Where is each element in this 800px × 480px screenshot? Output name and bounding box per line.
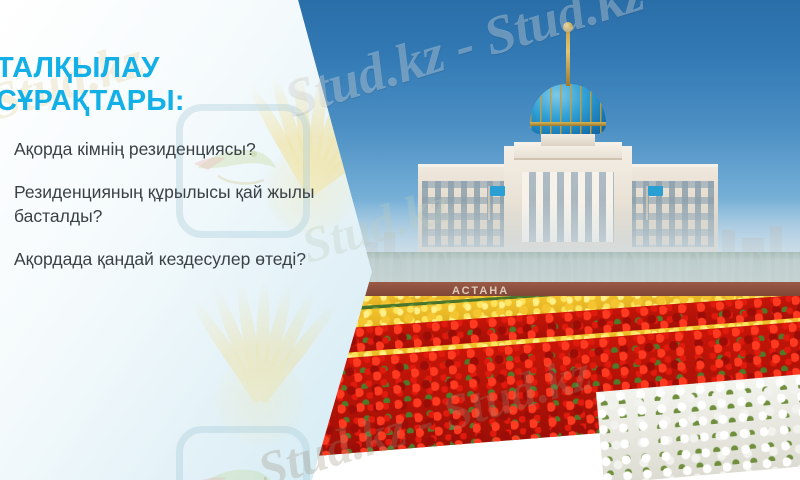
bird-logo-icon	[188, 444, 284, 480]
question-item: Ақордада қандай кездесулер өтеді?	[14, 248, 326, 271]
gold-spire	[566, 28, 570, 86]
title-line-2: СҰРАҚТАРЫ:	[0, 85, 306, 118]
dome-band	[530, 122, 606, 126]
question-item: Ақорда кімнің резиденциясы?	[14, 138, 326, 161]
kazakh-flag	[490, 186, 505, 196]
kazakh-flag	[648, 186, 663, 196]
question-list: Ақорда кімнің резиденциясы? Резиденцияны…	[14, 138, 326, 272]
slide-canvas: АСТАНА	[0, 0, 800, 480]
question-item: Резиденцияның құрылысы қай жылы басталды…	[14, 181, 326, 228]
slide-title: ТАЛҚЫЛАУ СҰРАҚТАРЫ:	[0, 52, 306, 118]
spire-finial	[563, 22, 573, 32]
title-line-1: ТАЛҚЫЛАУ	[0, 52, 306, 85]
